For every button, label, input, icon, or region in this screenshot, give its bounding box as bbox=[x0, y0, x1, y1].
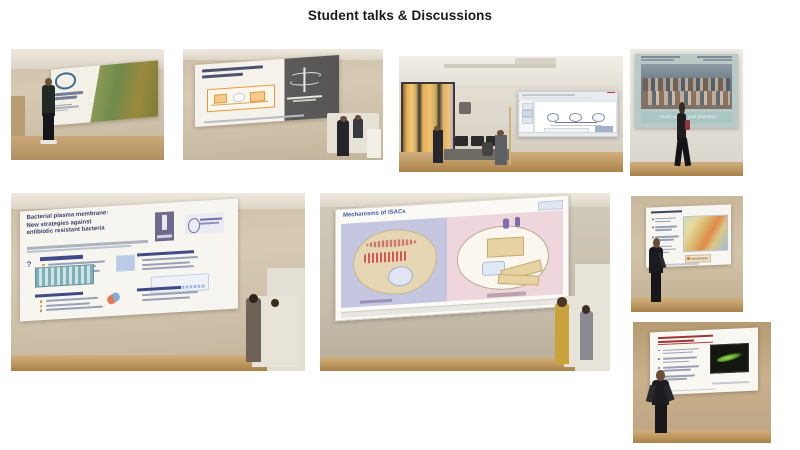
capsule-icon bbox=[105, 292, 121, 307]
slide-canvas: Student talks & Discussions bbox=[0, 0, 800, 450]
photo-2[interactable] bbox=[183, 49, 383, 160]
tumor-cell-panel bbox=[340, 218, 447, 309]
projection-screen[interactable] bbox=[518, 91, 619, 137]
side-panel bbox=[11, 96, 25, 140]
page-title: Student talks & Discussions bbox=[0, 8, 800, 23]
bullet-icon bbox=[652, 237, 654, 239]
status-bar bbox=[519, 132, 618, 136]
speaker-legs bbox=[651, 271, 661, 301]
slide-subtitle-line bbox=[55, 109, 68, 111]
handbag-icon bbox=[685, 120, 690, 130]
projection-screen bbox=[195, 55, 339, 127]
speaker-legs bbox=[655, 404, 667, 433]
legend-swatch bbox=[687, 258, 690, 261]
bullet-text bbox=[655, 229, 672, 231]
presenter-2-head bbox=[355, 115, 361, 121]
slide-title-line bbox=[202, 65, 262, 72]
bullet-icon bbox=[657, 350, 660, 352]
bullet-icon bbox=[39, 305, 42, 307]
slide-title: Bacterial plasma membrane:New strategies… bbox=[26, 211, 108, 238]
bullet-icon bbox=[652, 227, 654, 229]
bullet-icon bbox=[39, 301, 42, 303]
section-heading-line bbox=[35, 292, 83, 298]
thumbnail[interactable] bbox=[522, 117, 534, 124]
antifungal-pathway-diagram bbox=[207, 84, 275, 112]
slide-title-line bbox=[55, 95, 76, 99]
bullet-text bbox=[46, 298, 98, 303]
green-fluorescent-structure bbox=[716, 351, 743, 365]
bullet-text bbox=[662, 352, 692, 355]
slide-caption-line bbox=[641, 59, 674, 61]
section-heading-line bbox=[39, 256, 83, 262]
bullet-icon bbox=[39, 310, 42, 312]
membrane-schematic bbox=[150, 274, 209, 295]
bullet-text bbox=[142, 256, 199, 261]
image-caption bbox=[712, 382, 749, 386]
mhc-complex bbox=[486, 236, 523, 257]
walking-presenter-head bbox=[679, 102, 685, 113]
bullet-text bbox=[142, 297, 190, 302]
person-head bbox=[497, 130, 504, 136]
screen-stand-pole bbox=[509, 107, 511, 165]
slide-body-line bbox=[550, 125, 602, 126]
presenter-body bbox=[337, 120, 349, 156]
projection-screen: Bacterial plasma membrane:New strategies… bbox=[20, 199, 238, 322]
membrane-icon bbox=[116, 255, 135, 272]
photo-6[interactable]: Mechanisms of ISACs bbox=[320, 193, 610, 371]
floor bbox=[631, 298, 743, 312]
powerpoint-ribbon bbox=[519, 92, 618, 102]
diagram-node bbox=[233, 93, 246, 103]
question-mark-icon: ? bbox=[26, 260, 35, 270]
fluorescence-microscopy-image bbox=[710, 344, 749, 374]
bullet-icon bbox=[657, 368, 660, 370]
ceiling-vent bbox=[515, 58, 555, 64]
bullet-icon bbox=[657, 359, 660, 361]
presenter-body bbox=[246, 298, 261, 362]
presenter-2-head bbox=[271, 299, 279, 307]
bullet-text bbox=[655, 218, 675, 220]
stage-floor bbox=[11, 136, 164, 160]
bullet-icon bbox=[652, 219, 654, 221]
floor bbox=[633, 430, 771, 443]
bullet-text bbox=[662, 369, 690, 372]
slide-title: Mechanisms of ISACs bbox=[342, 209, 405, 219]
logo-text-line bbox=[293, 99, 316, 102]
antigen-presenting-cell-panel bbox=[447, 210, 563, 301]
slide-title-line bbox=[55, 91, 83, 96]
diagram-node bbox=[250, 91, 265, 102]
speaker-body bbox=[42, 85, 56, 116]
photo-8[interactable] bbox=[633, 322, 771, 443]
slide-caption-line bbox=[703, 59, 732, 61]
monitor bbox=[455, 136, 468, 146]
slide-heading-line bbox=[555, 122, 597, 124]
person-standing-center bbox=[495, 135, 506, 165]
slide-canvas-area bbox=[534, 101, 617, 135]
receptor-icon bbox=[503, 219, 509, 229]
presenter-2-body bbox=[353, 118, 363, 138]
receptor-icon bbox=[514, 216, 520, 226]
bullet-text bbox=[46, 306, 103, 311]
diagram-node bbox=[214, 93, 227, 103]
slide-title-line bbox=[651, 210, 682, 214]
speaker-head bbox=[45, 78, 52, 86]
presenter-2-body bbox=[580, 311, 593, 361]
source-logo bbox=[538, 200, 563, 210]
photo-5[interactable]: Bacterial plasma membrane:New strategies… bbox=[11, 193, 305, 371]
speaker-shoes bbox=[40, 140, 57, 144]
wall-speaker-icon bbox=[459, 102, 470, 114]
presenter-2-head bbox=[582, 305, 590, 314]
photo-1[interactable] bbox=[11, 49, 164, 160]
slide-caption-line bbox=[697, 56, 732, 58]
legend-label bbox=[691, 258, 708, 260]
speaker-head bbox=[653, 238, 660, 248]
bullet-text bbox=[655, 221, 670, 223]
ribbon-accent bbox=[607, 92, 615, 93]
group-row-front bbox=[643, 91, 731, 105]
slide-caption-line bbox=[641, 56, 681, 58]
photo-3[interactable] bbox=[399, 56, 623, 172]
presenter-body bbox=[555, 303, 570, 364]
group-photo bbox=[641, 64, 732, 108]
speaker-legs bbox=[43, 113, 54, 142]
bullet-text bbox=[142, 266, 194, 271]
projection-screen: Mechanisms of ISACs bbox=[335, 195, 569, 322]
university-marburg-logo bbox=[185, 213, 224, 235]
world-map bbox=[683, 215, 728, 252]
person-standing-left bbox=[433, 130, 443, 162]
ribbon-tools bbox=[522, 97, 591, 99]
photo-4[interactable]: Thank you for your attention ! bbox=[630, 49, 743, 176]
bullet-text bbox=[662, 361, 688, 364]
thank-you-text: Thank you for your attention ! bbox=[659, 114, 718, 119]
slide-thumbnail-pane[interactable] bbox=[520, 101, 534, 133]
projection-screen bbox=[51, 60, 158, 125]
projection-screen: Thank you for your attention ! bbox=[635, 54, 739, 128]
antigen-fragment bbox=[497, 274, 539, 286]
ceiling-beam bbox=[444, 64, 556, 67]
conference-logo-icon bbox=[55, 71, 76, 89]
poster-board bbox=[367, 129, 381, 158]
bullet-text bbox=[662, 357, 696, 360]
anti-infectives-logo bbox=[155, 212, 175, 242]
speaker-head bbox=[656, 370, 664, 381]
photo-7[interactable] bbox=[631, 196, 743, 312]
presenter-head bbox=[557, 297, 566, 307]
slide-title-line bbox=[202, 72, 242, 78]
panel-label bbox=[359, 298, 391, 303]
panel-label bbox=[486, 291, 525, 297]
snake-coil-icon bbox=[290, 77, 321, 86]
ribbon-tabs bbox=[522, 94, 575, 95]
person-seated bbox=[482, 142, 493, 156]
membrane-array-image bbox=[35, 265, 94, 288]
